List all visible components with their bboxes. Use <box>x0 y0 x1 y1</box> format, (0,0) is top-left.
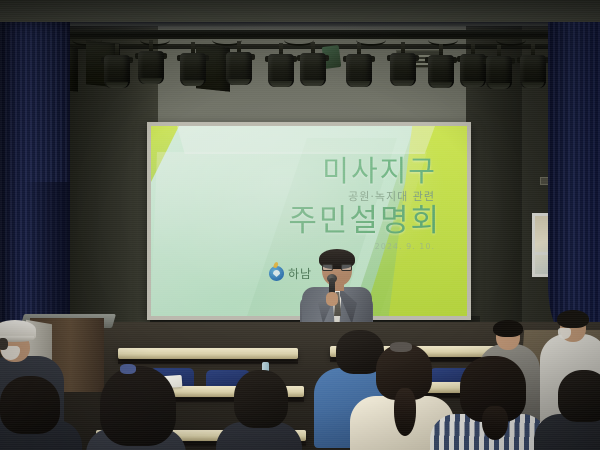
stage-light <box>300 42 326 86</box>
audience-desk <box>118 348 298 359</box>
stage-light <box>520 44 546 88</box>
eyeglasses-icon <box>322 264 352 271</box>
auditorium-photo: 미사지구 공원·녹지대 관련 주민설명회 2024. 9. 10. 하남 <box>0 0 600 450</box>
stage-light <box>180 42 206 86</box>
stage-light <box>138 40 164 84</box>
stage-light <box>390 42 416 86</box>
stage-curtain-left <box>0 22 70 362</box>
stage-light <box>460 43 486 87</box>
stage-light <box>104 44 130 88</box>
stage-curtain-right <box>548 22 600 342</box>
curtain-valance <box>0 22 600 32</box>
stage-light <box>346 43 372 87</box>
stage-light <box>226 41 252 85</box>
stage-light <box>428 44 454 88</box>
stage-light <box>268 43 294 87</box>
stage-light <box>486 45 512 89</box>
